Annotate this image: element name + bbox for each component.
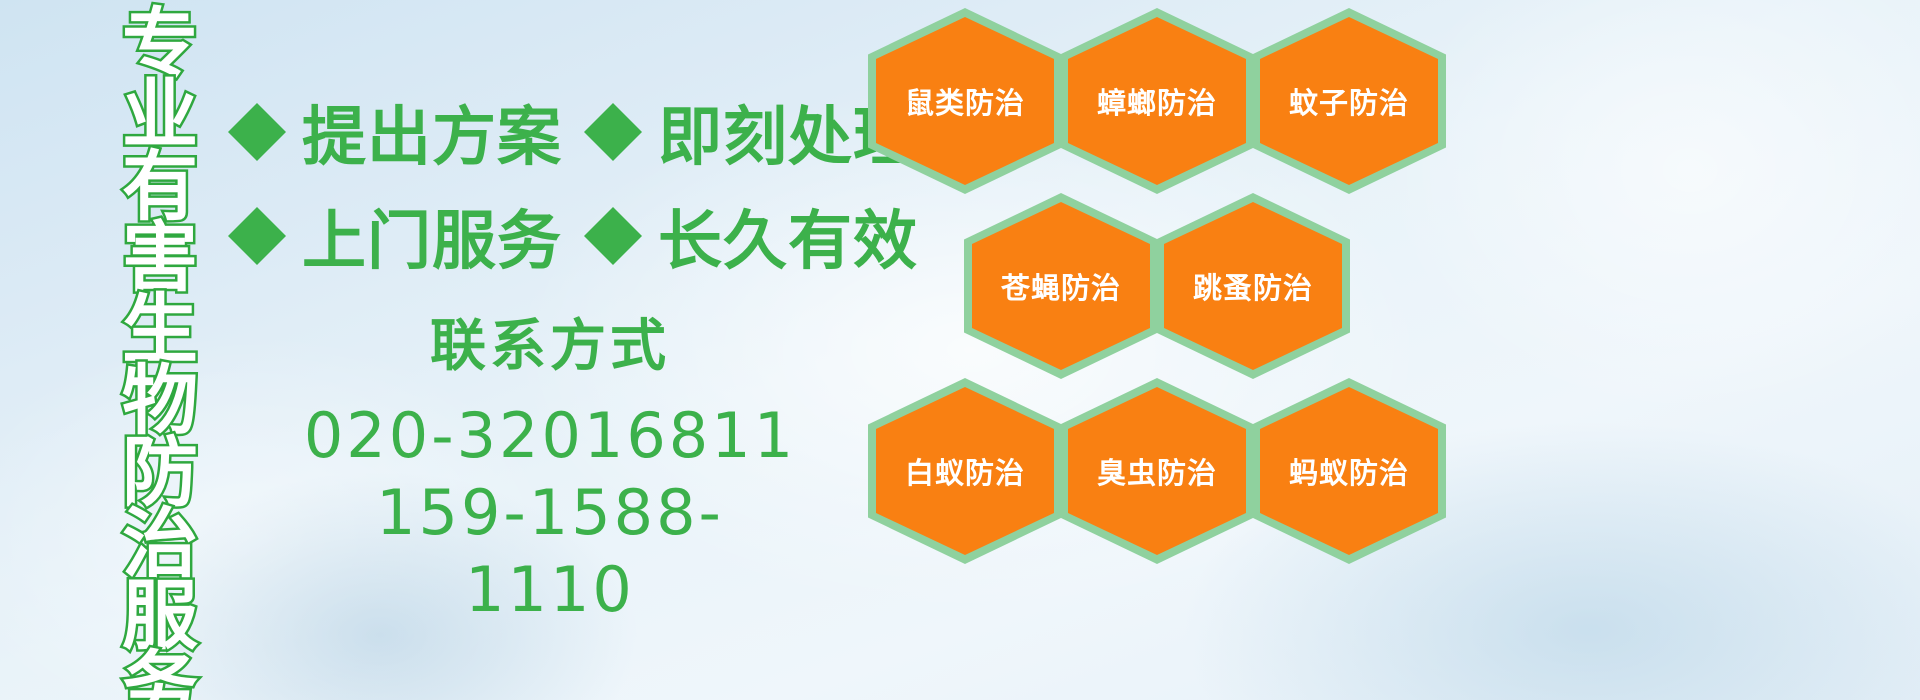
service-hex-rodent-control[interactable]: 鼠类防治: [868, 8, 1062, 194]
service-honeycomb: 鼠类防治 蟑螂防治 蚊子防治 苍蝇防治 跳蚤防治 白蚁防治: [862, 0, 1462, 568]
service-hex-mosquito-control[interactable]: 蚊子防治: [1252, 8, 1446, 194]
vertical-slogan-char: 务: [122, 651, 198, 700]
service-hex-ant-control[interactable]: 蚂蚁防治: [1252, 378, 1446, 564]
service-hex-flea-control[interactable]: 跳蚤防治: [1156, 193, 1350, 379]
feature-label: 上门服务: [302, 190, 562, 282]
service-hex-termite-control[interactable]: 白蚁防治: [868, 378, 1062, 564]
service-hex-cockroach-control[interactable]: 蟑螂防治: [1060, 8, 1254, 194]
vertical-slogan-char: 防: [122, 437, 198, 508]
feature-label: 提出方案: [302, 86, 562, 178]
vertical-slogan: 专 业 有 害 生 物 防 治 服 务: [108, 8, 212, 700]
feature-list: 提出方案 即刻处理 上门服务 长久有效: [228, 80, 868, 288]
service-hex-bedbug-control[interactable]: 臭虫防治: [1060, 378, 1254, 564]
vertical-slogan-char: 物: [122, 365, 198, 436]
feature-item-propose-plan: 提出方案: [228, 86, 562, 178]
vertical-slogan-char: 治: [122, 508, 198, 579]
service-hex-label: 蚊子防治: [1289, 80, 1409, 122]
service-hex-label: 鼠类防治: [905, 80, 1025, 122]
service-hex-label: 蚂蚁防治: [1289, 450, 1409, 492]
contact-title: 联系方式: [300, 312, 800, 382]
pest-control-banner: 专 业 有 害 生 物 防 治 服 务 提出方案 即刻处理 上门服务: [0, 0, 1920, 700]
feature-row: 提出方案 即刻处理: [228, 80, 868, 184]
vertical-slogan-char: 有: [122, 151, 198, 222]
service-hex-label: 跳蚤防治: [1193, 265, 1313, 307]
feature-item-door-to-door-service: 上门服务: [228, 190, 562, 282]
service-hex-label: 白蚁防治: [905, 450, 1025, 492]
diamond-bullet-icon: [584, 74, 642, 132]
diamond-bullet-icon: [228, 178, 286, 236]
vertical-slogan-char: 服: [122, 580, 198, 651]
service-hex-label: 苍蝇防治: [1001, 265, 1121, 307]
service-hex-label: 蟑螂防治: [1097, 80, 1217, 122]
contact-phone-landline[interactable]: 020-32016811: [300, 398, 800, 475]
diamond-bullet-icon: [228, 74, 286, 132]
vertical-slogan-char: 生: [122, 294, 198, 365]
feature-row: 上门服务 长久有效: [228, 184, 868, 288]
contact-block: 联系方式 020-32016811 159-1588-1110: [300, 312, 800, 629]
vertical-slogan-char: 业: [122, 79, 198, 150]
service-hex-label: 臭虫防治: [1097, 450, 1217, 492]
vertical-slogan-char: 专: [122, 8, 198, 79]
vertical-slogan-char: 害: [122, 222, 198, 293]
service-hex-fly-control[interactable]: 苍蝇防治: [964, 193, 1158, 379]
diamond-bullet-icon: [584, 178, 642, 236]
contact-phone-mobile[interactable]: 159-1588-1110: [300, 475, 800, 629]
